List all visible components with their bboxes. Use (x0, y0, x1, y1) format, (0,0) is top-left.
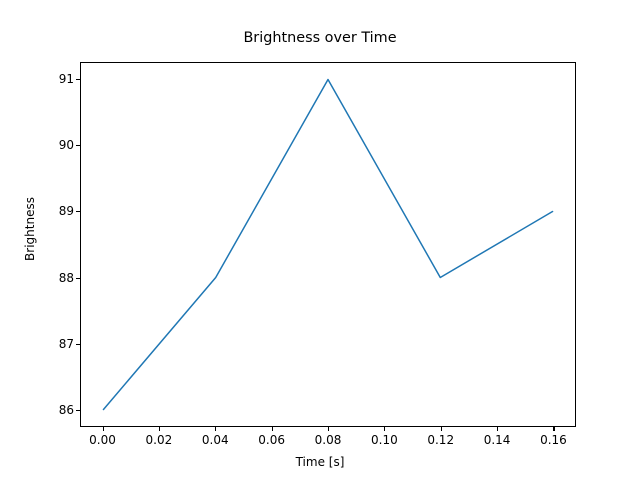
y-tick-label: 90 (34, 139, 74, 151)
chart-figure: Brightness over Time Brightness 86878889… (0, 0, 640, 480)
x-tick-mark (103, 427, 104, 431)
x-tick-label: 0.02 (129, 434, 189, 446)
x-tick-label: 0.12 (411, 434, 471, 446)
chart-title: Brightness over Time (0, 30, 640, 46)
x-tick-label: 0.08 (298, 434, 358, 446)
x-tick-label: 0.04 (185, 434, 245, 446)
x-tick-mark (328, 427, 329, 431)
x-tick-mark (159, 427, 160, 431)
x-tick-mark (553, 427, 554, 431)
x-axis-tick-labels: 0.000.020.040.060.080.100.120.140.16 (0, 434, 640, 450)
plot-area (80, 62, 576, 427)
y-tick-label: 88 (34, 272, 74, 284)
x-tick-mark (441, 427, 442, 431)
x-tick-mark (272, 427, 273, 431)
x-tick-mark (497, 427, 498, 431)
x-tick-label: 0.00 (73, 434, 133, 446)
x-tick-mark (215, 427, 216, 431)
x-axis-label: Time [s] (0, 455, 640, 469)
data-line-series (81, 63, 575, 426)
y-tick-label: 87 (34, 338, 74, 350)
x-tick-mark (384, 427, 385, 431)
x-tick-label: 0.14 (467, 434, 527, 446)
x-tick-label: 0.10 (354, 434, 414, 446)
y-axis-tick-labels: 868788899091 (26, 62, 74, 427)
x-tick-label: 0.16 (523, 434, 583, 446)
y-tick-label: 89 (34, 205, 74, 217)
x-tick-label: 0.06 (242, 434, 302, 446)
series-line-brightness (103, 79, 552, 409)
y-tick-label: 86 (34, 404, 74, 416)
y-tick-label: 91 (34, 73, 74, 85)
